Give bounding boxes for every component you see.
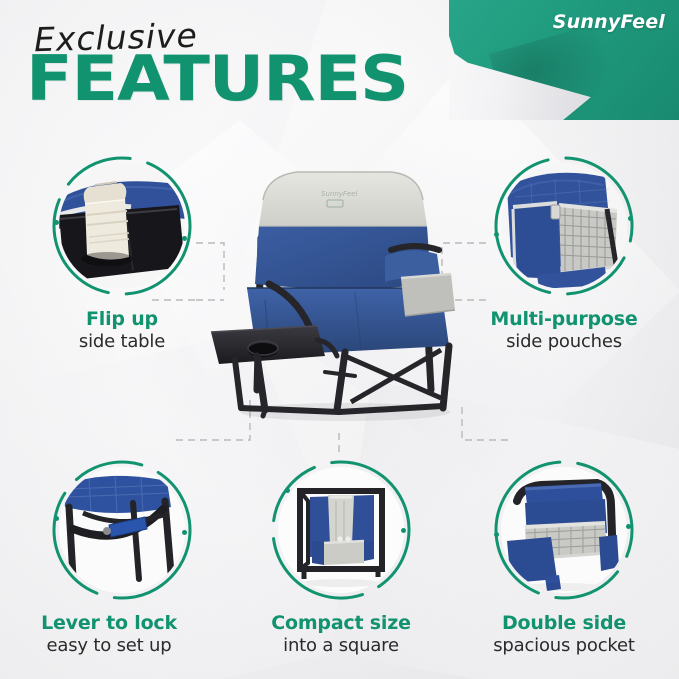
ring-accent-dot [401, 528, 406, 533]
feature-title: Double side [449, 612, 679, 634]
feature-label-flip-up-side-table: Flip up side table [7, 308, 237, 352]
product-image-main-chair: SunnyFeel [205, 160, 475, 430]
feature-callout-compact-size[interactable] [267, 456, 415, 604]
feature-title: Lever to lock [0, 612, 224, 634]
callout-ring [48, 456, 196, 604]
callout-ring [48, 152, 196, 300]
ring-accent-dot [628, 216, 633, 221]
ring-accent-dot [182, 236, 187, 241]
callout-ring [490, 456, 638, 604]
ring-accent-dot [182, 530, 187, 535]
feature-label-lever-to-lock: Lever to lock easy to set up [0, 612, 224, 656]
feature-callout-multi-purpose-side-pouches[interactable] [490, 152, 638, 300]
feature-title: Multi-purpose [449, 308, 679, 330]
ring-accent-dot [494, 532, 499, 537]
infographic-canvas: SunnyFeel Exclusive FEATURES [0, 0, 679, 679]
ring-accent-dot [54, 516, 59, 521]
callout-ring [490, 152, 638, 300]
feature-label-multi-purpose-side-pouches: Multi-purpose side pouches [449, 308, 679, 352]
feature-callout-flip-up-side-table[interactable] [48, 152, 196, 300]
ring-accent-dot [54, 220, 59, 225]
feature-title: Flip up [7, 308, 237, 330]
feature-subtitle: into a square [226, 635, 456, 656]
feature-subtitle: side pouches [449, 331, 679, 352]
feature-callout-double-side-pocket[interactable] [490, 456, 638, 604]
callout-ring [267, 456, 415, 604]
chair-logo-text: SunnyFeel [321, 190, 358, 198]
brand-logo: SunnyFeel [553, 11, 665, 33]
feature-callout-lever-to-lock[interactable] [48, 456, 196, 604]
ring-accent-dot [626, 524, 631, 529]
ring-accent-dot [494, 232, 499, 237]
feature-subtitle: spacious pocket [449, 635, 679, 656]
feature-subtitle: easy to set up [0, 635, 224, 656]
feature-title: Compact size [226, 612, 456, 634]
feature-label-double-side-pocket: Double side spacious pocket [449, 612, 679, 656]
feature-subtitle: side table [7, 331, 237, 352]
page-title: FEATURES [26, 48, 408, 110]
ring-accent-dot [285, 488, 290, 493]
feature-label-compact-size: Compact size into a square [226, 612, 456, 656]
